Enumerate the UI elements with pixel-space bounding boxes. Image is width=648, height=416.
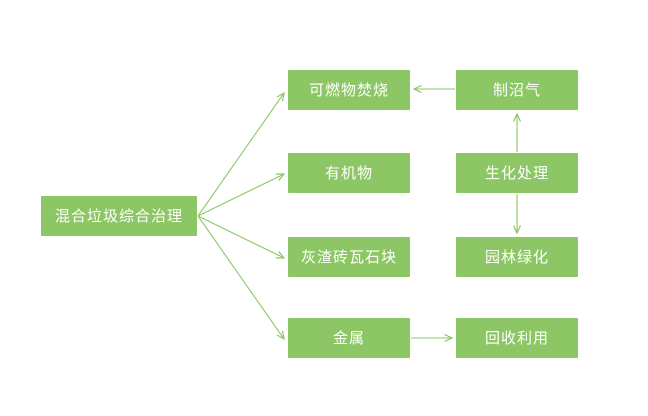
node-biogas-label: 制沼气 [493,83,541,98]
edge-source-to-metal [198,216,284,339]
node-organic[interactable]: 有机物 [288,153,410,193]
node-recycling[interactable]: 回收利用 [456,318,578,358]
flowchart-diagram: 混合垃圾综合治理 可燃物焚烧 有机物 灰渣砖瓦石块 金属 制沼气 生化处理 园林… [0,0,648,416]
node-biochemical[interactable]: 生化处理 [456,153,578,193]
node-landscaping[interactable]: 园林绿化 [456,237,578,277]
node-combustible[interactable]: 可燃物焚烧 [288,70,410,110]
edge-source-to-ash [198,216,284,258]
node-landscaping-label: 园林绿化 [485,250,549,265]
node-organic-label: 有机物 [325,166,373,181]
node-biochemical-label: 生化处理 [485,166,549,181]
node-ash-brick-tile-stone-label: 灰渣砖瓦石块 [301,250,397,265]
edge-source-to-organic [198,174,284,216]
node-metal-label: 金属 [333,331,365,346]
edge-source-to-combustible [198,93,284,216]
node-mixed-waste-label: 混合垃圾综合治理 [55,209,183,224]
node-biogas[interactable]: 制沼气 [456,70,578,110]
node-ash-brick-tile-stone[interactable]: 灰渣砖瓦石块 [288,237,410,277]
node-recycling-label: 回收利用 [485,331,549,346]
node-combustible-label: 可燃物焚烧 [309,83,389,98]
node-metal[interactable]: 金属 [288,318,410,358]
node-mixed-waste[interactable]: 混合垃圾综合治理 [41,196,197,236]
